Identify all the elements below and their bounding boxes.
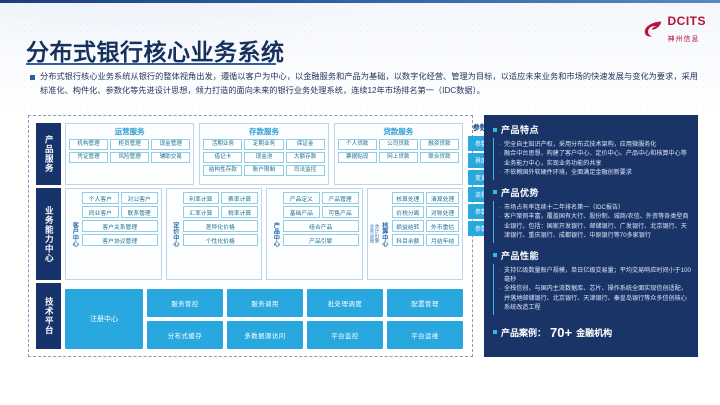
info-list-item: ·融合中台思想，构建了客户中心、定价中心、产品中心和核算中心等业务能力中心，实现… xyxy=(499,149,691,168)
brand-subname: 神州信息 xyxy=(668,36,700,43)
intro-text: 分布式银行核心业务系统从银行的整体视角出发，遵循以客户为中心，以金融服务和产品为… xyxy=(40,70,698,99)
dot-icon: · xyxy=(499,168,501,177)
tech-chip[interactable]: 平台运维 xyxy=(387,321,463,349)
info-card-body: ·市场占有率连续十二年排名第一（IDC报告） ·客户案例丰富，覆盖国有大行、股份… xyxy=(493,201,691,243)
service-chip[interactable]: 结构性存款 xyxy=(203,165,242,176)
capability-chip[interactable]: 损益结转 xyxy=(392,220,425,232)
info-list-item: ·全栈信创，与国内主流数据库、芯片、操作系统全面实现信创适配，并落地邮储银行、北… xyxy=(499,284,691,312)
page-title: 分布式银行核心业务系统 xyxy=(26,33,285,67)
info-panel: 产品特点 ·完全自主知识产权，采用分布式技术架构，应用微服务化 ·融合中台思想，… xyxy=(484,115,698,357)
info-list-item: ·客户案例丰富，覆盖国有大行、股份制、城商/农信、外资等各类型商业银行，包括：国… xyxy=(499,212,691,240)
bullet-square-icon xyxy=(493,253,497,257)
service-chip[interactable]: 个人贷款 xyxy=(338,139,377,150)
info-card-title: 产品性能 xyxy=(501,249,539,262)
bullet-square-icon xyxy=(30,75,35,80)
capability-chip[interactable]: 个性化价格 xyxy=(183,234,259,246)
title-underline xyxy=(26,63,276,65)
capability-chip[interactable]: 核算处理 xyxy=(392,192,425,204)
service-chip[interactable]: 机构管理 xyxy=(69,139,108,150)
capability-center-customer: 客户中心 个人客户 对公客户 同业客户 联系管理 客户关系管理 客户协议管理 xyxy=(65,188,162,280)
chip-grid: 个人贷款 公司贷款 融资贷款 票据贴现 网上贷款 联合贷款 xyxy=(338,139,459,163)
chip-grid: 机构管理 柜员管理 现金管理 凭证管理 风险管理 辅助交易 xyxy=(69,139,190,163)
tech-chip[interactable]: 服务管控 xyxy=(147,289,223,317)
service-chip[interactable]: 网上贷款 xyxy=(379,152,418,163)
service-chip[interactable]: 司法监控 xyxy=(286,165,325,176)
info-item-text: 客户案例丰富，覆盖国有大行、股份制、城商/农信、外资等各类型商业银行，包括：国家… xyxy=(504,212,691,240)
capability-chip[interactable]: 费率计算 xyxy=(221,192,258,204)
service-chip[interactable]: 大额存款 xyxy=(286,152,325,163)
capability-center-product: 产品中心 产品定义 产品管理 基础产品 可售产品 组合产品 产品引擎 xyxy=(266,188,363,280)
tech-chip[interactable]: 配置管理 xyxy=(387,289,463,317)
tech-chip[interactable]: 多数据源访问 xyxy=(227,321,303,349)
capability-center-label: 产品中心 xyxy=(270,192,280,276)
layer-label-tech-platform: 技术平台 xyxy=(36,283,61,349)
service-group-title: 贷款服务 xyxy=(338,126,459,137)
service-chip[interactable]: 活期业务 xyxy=(203,139,242,150)
info-item-text: 支持亿级数量账户规模，单日亿级交易量；平均交易响应时间小于100毫秒 xyxy=(504,266,691,285)
capability-chip[interactable]: 对公客户 xyxy=(121,192,158,204)
architecture-panel: 产品服务 业务能力中心 技术平台 运营服务 机构管理 柜员管理 现金管理 凭证管… xyxy=(28,115,473,357)
info-card-body: ·支持亿级数量账户规模，单日亿级交易量；平均交易响应时间小于100毫秒 ·全栈信… xyxy=(493,264,691,315)
info-card-title: 产品优势 xyxy=(501,186,539,199)
service-chip[interactable]: 现金管理 xyxy=(151,139,190,150)
tech-chip-grid: 服务管控 服务调用 批处理调度 配置管理 分布式缓存 多数据源访问 平台监控 平… xyxy=(147,289,463,349)
info-card-header: 产品优势 xyxy=(491,184,691,201)
product-case-banner: 产品案例： 70+ 金融机构 xyxy=(491,321,691,344)
dot-icon: · xyxy=(499,203,501,212)
service-chip[interactable]: 联合贷款 xyxy=(420,152,459,163)
capability-chip[interactable]: 清算处理 xyxy=(426,192,459,204)
service-chip[interactable]: 凭证管理 xyxy=(69,152,108,163)
tech-chip[interactable]: 批处理调度 xyxy=(307,289,383,317)
registry-center-block[interactable]: 注册中心 xyxy=(65,289,143,349)
product-case-label: 产品案例： xyxy=(501,326,546,339)
service-group-title: 存款服务 xyxy=(203,126,324,137)
service-chip[interactable]: 定期业务 xyxy=(244,139,283,150)
bullet-square-icon xyxy=(493,330,497,334)
info-item-text: 全栈信创，与国内主流数据库、芯片、操作系统全面实现信创适配，并落地邮储银行、北京… xyxy=(504,284,691,312)
service-chip[interactable]: 保证金 xyxy=(286,139,325,150)
info-card-title: 产品特点 xyxy=(501,123,539,136)
layer-label-product-service: 产品服务 xyxy=(36,123,61,185)
capability-chip[interactable]: 对账处理 xyxy=(426,206,459,218)
bullet-square-icon xyxy=(493,128,497,132)
capability-center-pricing: 定价中心 利率计算 费率计算 汇率计算 税率计算 差异化价格 个性化价格 xyxy=(166,188,263,280)
dot-icon: · xyxy=(499,140,501,149)
info-list-item: ·市场占有率连续十二年排名第一（IDC报告） xyxy=(499,203,691,212)
info-card-features: 产品特点 ·完全自主知识产权，采用分布式技术架构，应用微服务化 ·融合中台思想，… xyxy=(491,121,691,180)
service-chip[interactable]: 账户限制 xyxy=(244,165,283,176)
service-chip[interactable]: 公司贷款 xyxy=(379,139,418,150)
info-list-item: ·完全自主知识产权，采用分布式技术架构，应用微服务化 xyxy=(499,140,691,149)
capability-chip[interactable]: 价税分离 xyxy=(392,206,425,218)
brand-logo: DCITS 神州信息 xyxy=(642,13,707,45)
service-chip[interactable]: 辅助交易 xyxy=(151,152,190,163)
capability-center-label: 定价中心 xyxy=(170,192,180,276)
tech-chip[interactable]: 服务调用 xyxy=(227,289,303,317)
accounting-side-labels: 会计引擎 业务总账 xyxy=(371,192,379,276)
service-chip[interactable]: 现金池 xyxy=(244,152,283,163)
capability-chip[interactable]: 可售产品 xyxy=(322,206,359,218)
chip-grid: 活期业务 定期业务 保证金 借记卡 现金池 大额存款 结构性存款 账户限制 司法… xyxy=(203,139,324,176)
capability-chip[interactable]: 差异化价格 xyxy=(183,220,259,232)
service-group-operations: 运营服务 机构管理 柜员管理 现金管理 凭证管理 风险管理 辅助交易 xyxy=(65,123,194,185)
capability-chip[interactable]: 汇率计算 xyxy=(183,206,220,218)
capability-chip[interactable]: 个人客户 xyxy=(82,192,119,204)
dot-icon: · xyxy=(499,149,501,168)
product-case-unit: 金融机构 xyxy=(576,326,612,339)
capability-chip[interactable]: 组合产品 xyxy=(283,220,359,232)
info-item-text: 不依赖国外软硬件环境，全面满足金融创新要求 xyxy=(504,168,632,177)
service-chip[interactable]: 柜员管理 xyxy=(110,139,149,150)
service-group-title: 运营服务 xyxy=(69,126,190,137)
brand-name: DCITS xyxy=(668,14,707,28)
product-case-number: 70+ xyxy=(550,325,572,340)
info-item-text: 市场占有率连续十二年排名第一（IDC报告） xyxy=(504,203,624,212)
info-list-item: ·支持亿级数量账户规模，单日亿级交易量；平均交易响应时间小于100毫秒 xyxy=(499,266,691,285)
capability-chip[interactable]: 利率计算 xyxy=(183,192,220,204)
info-card-header: 产品性能 xyxy=(491,247,691,264)
capability-center-accounting: 会计引擎 业务总账 核算中心 核算处理 清算处理 价税分离 对账处理 损益结转 … xyxy=(367,188,464,280)
service-group-loan: 贷款服务 个人贷款 公司贷款 融资贷款 票据贴现 网上贷款 联合贷款 xyxy=(334,123,463,185)
service-chip[interactable]: 风险管理 xyxy=(110,152,149,163)
capability-chip[interactable]: 税率计算 xyxy=(221,206,258,218)
info-list-item: ·不依赖国外软硬件环境，全面满足金融创新要求 xyxy=(499,168,691,177)
info-card-body: ·完全自主知识产权，采用分布式技术架构，应用微服务化 ·融合中台思想，构建了客户… xyxy=(493,138,691,180)
layer-label-capability-center: 业务能力中心 xyxy=(36,188,61,280)
business-ledger-label: 业务总账 xyxy=(368,224,373,243)
capability-center-label: 核算中心 xyxy=(379,222,389,247)
service-groups-row: 运营服务 机构管理 柜员管理 现金管理 凭证管理 风险管理 辅助交易 存款服务 … xyxy=(65,123,463,185)
info-item-text: 融合中台思想，构建了客户中心、定价中心、产品中心和核算中心等业务能力中心，实现业… xyxy=(504,149,691,168)
service-chip[interactable]: 票据贴现 xyxy=(338,152,377,163)
tech-chip[interactable]: 分布式缓存 xyxy=(147,321,223,349)
dot-icon: · xyxy=(499,284,501,312)
service-chip[interactable]: 借记卡 xyxy=(203,152,242,163)
tech-platform-row: 注册中心 服务管控 服务调用 批处理调度 配置管理 分布式缓存 多数据源访问 平… xyxy=(65,283,463,349)
capability-centers-row: 客户中心 个人客户 对公客户 同业客户 联系管理 客户关系管理 客户协议管理 定… xyxy=(65,188,463,280)
capability-chip[interactable]: 产品引擎 xyxy=(283,234,359,246)
capability-chip[interactable]: 产品定义 xyxy=(283,192,320,204)
info-card-header: 产品特点 xyxy=(491,121,691,138)
dot-icon: · xyxy=(499,212,501,240)
capability-chip[interactable]: 基础产品 xyxy=(283,206,320,218)
info-item-text: 完全自主知识产权，采用分布式技术架构，应用微服务化 xyxy=(504,140,656,149)
capability-chip[interactable]: 月结年结 xyxy=(426,234,459,246)
capability-chip[interactable]: 产品管理 xyxy=(322,192,359,204)
capability-chip[interactable]: 科目余额 xyxy=(392,234,425,246)
dot-icon: · xyxy=(499,266,501,285)
info-card-performance: 产品性能 ·支持亿级数量账户规模，单日亿级交易量；平均交易响应时间小于100毫秒… xyxy=(491,247,691,315)
tech-chip[interactable]: 平台监控 xyxy=(307,321,383,349)
bullet-square-icon xyxy=(493,190,497,194)
info-card-advantages: 产品优势 ·市场占有率连续十二年排名第一（IDC报告） ·客户案例丰富，覆盖国有… xyxy=(491,184,691,243)
service-chip[interactable]: 融资贷款 xyxy=(420,139,459,150)
capability-chip[interactable]: 客户协议管理 xyxy=(82,234,158,246)
capability-chip[interactable]: 同业客户 xyxy=(82,206,119,218)
capability-center-label: 客户中心 xyxy=(69,192,79,276)
service-group-deposit: 存款服务 活期业务 定期业务 保证金 借记卡 现金池 大额存款 结构性存款 账户… xyxy=(199,123,328,185)
intro-paragraph: 分布式银行核心业务系统从银行的整体视角出发，遵循以客户为中心，以金融服务和产品为… xyxy=(30,70,698,99)
top-accent-rule xyxy=(0,0,720,3)
dcits-swirl-icon xyxy=(642,18,664,40)
capability-chip[interactable]: 联系管理 xyxy=(121,206,158,218)
capability-chip[interactable]: 客户关系管理 xyxy=(82,220,158,232)
capability-chip[interactable]: 外币重估 xyxy=(426,220,459,232)
